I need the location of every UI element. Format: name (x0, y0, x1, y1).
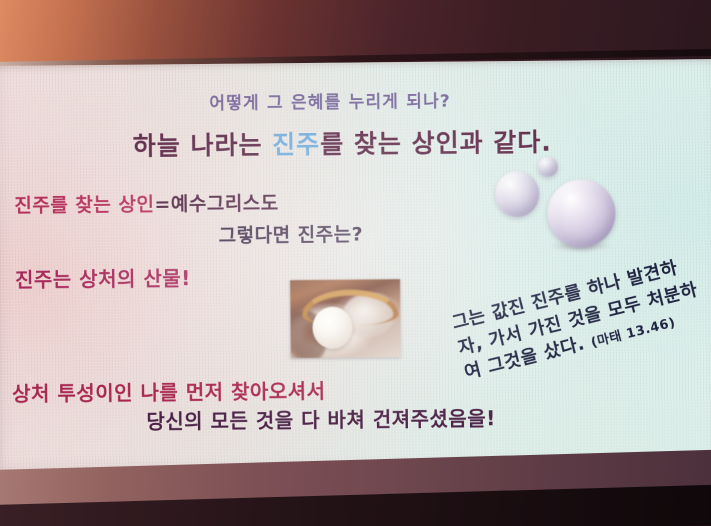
slide-subtitle: 어떻게 그 은혜를 누리게 되나? (209, 87, 451, 114)
scripture-quote-block: 그는 값진 진주를 하나 발견하자, 가서 가진 것을 모두 처분하여 그것을 … (449, 251, 710, 386)
merchant-rest: =예수그리스도 (154, 192, 279, 215)
oyster-inner-pearl (312, 307, 352, 349)
closing-line-1: 상처 투성이인 나를 먼저 찾아오셔서 (12, 375, 326, 407)
projected-slide-photograph: 어떻게 그 은혜를 누리게 되나? 하늘 나라는 진주를 찾는 상인과 같다. … (0, 0, 711, 526)
pearl-small (538, 157, 558, 177)
pearls-photo (491, 151, 682, 258)
slide-content: 어떻게 그 은혜를 누리게 되나? 하늘 나라는 진주를 찾는 상인과 같다. … (0, 59, 711, 478)
question-line: 그렇다면 진주는? (218, 219, 363, 247)
headline-accent-pearl: 진주 (272, 130, 320, 159)
pearl-medium (495, 171, 539, 217)
merchant-highlight: 진주를 찾는 상인 (14, 193, 154, 216)
closing-line-2: 당신의 모든 것을 다 바쳐 건져주셨음을! (146, 402, 496, 434)
slide-headline: 하늘 나라는 진주를 찾는 상인과 같다. (133, 123, 552, 163)
oyster-photo (290, 279, 401, 358)
merchant-equation-line: 진주를 찾는 상인=예수그리스도 (14, 188, 279, 218)
pearl-large (547, 179, 616, 248)
headline-before: 하늘 나라는 (133, 130, 273, 160)
wound-statement-line: 진주는 상처의 산물! (15, 262, 191, 293)
projection-screen: 어떻게 그 은혜를 누리게 되나? 하늘 나라는 진주를 찾는 상인과 같다. … (0, 59, 711, 478)
